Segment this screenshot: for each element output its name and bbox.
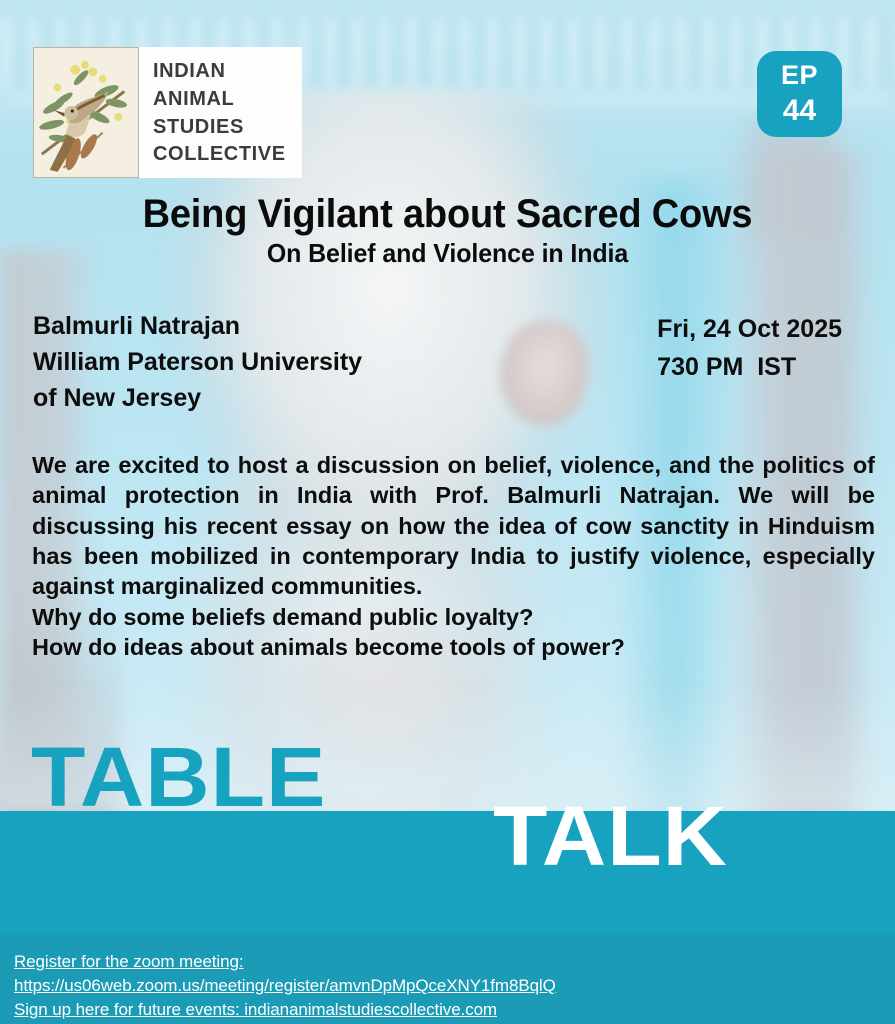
organization-name: INDIAN ANIMAL STUDIES COLLECTIVE bbox=[139, 47, 302, 178]
speaker-affiliation-line-1: William Paterson University bbox=[33, 344, 362, 380]
description-paragraph: We are excited to host a discussion on b… bbox=[32, 450, 875, 602]
bird-and-foliage-illustration-icon bbox=[33, 47, 139, 178]
register-label: Register for the zoom meeting: bbox=[14, 950, 895, 974]
event-poster: INDIAN ANIMAL STUDIES COLLECTIVE EP 44 B… bbox=[0, 0, 895, 1024]
event-date: Fri, 24 Oct 2025 bbox=[657, 310, 842, 348]
footer: Register for the zoom meeting: https://u… bbox=[0, 933, 895, 1024]
wordmark-talk: TALK bbox=[493, 794, 728, 878]
logo-line-4: COLLECTIVE bbox=[153, 141, 286, 169]
episode-badge: EP 44 bbox=[757, 51, 842, 137]
event-description: We are excited to host a discussion on b… bbox=[32, 450, 875, 662]
speaker-affiliation-line-2: of New Jersey bbox=[33, 380, 362, 416]
teal-band bbox=[0, 811, 895, 933]
page-title: Being Vigilant about Sacred Cows bbox=[22, 192, 872, 237]
logo-line-2: ANIMAL bbox=[153, 86, 286, 114]
event-datetime: Fri, 24 Oct 2025 730 PM IST bbox=[657, 310, 842, 386]
description-question-2: How do ideas about animals become tools … bbox=[32, 632, 875, 662]
episode-label: EP bbox=[781, 62, 818, 89]
speaker-name: Balmurli Natrajan bbox=[33, 308, 362, 344]
event-time: 730 PM IST bbox=[657, 348, 842, 386]
page-subtitle: On Belief and Violence in India bbox=[18, 238, 877, 269]
signup-website-link[interactable]: Sign up here for future events: indianan… bbox=[14, 998, 895, 1022]
episode-number: 44 bbox=[783, 96, 816, 126]
zoom-register-link[interactable]: https://us06web.zoom.us/meeting/register… bbox=[14, 974, 895, 998]
description-question-1: Why do some beliefs demand public loyalt… bbox=[32, 602, 875, 632]
wordmark-table: TABLE bbox=[31, 735, 326, 819]
organization-logo: INDIAN ANIMAL STUDIES COLLECTIVE bbox=[33, 47, 302, 178]
logo-line-3: STUDIES bbox=[153, 114, 286, 142]
logo-line-1: INDIAN bbox=[153, 58, 286, 86]
speaker-info: Balmurli Natrajan William Paterson Unive… bbox=[33, 308, 362, 416]
